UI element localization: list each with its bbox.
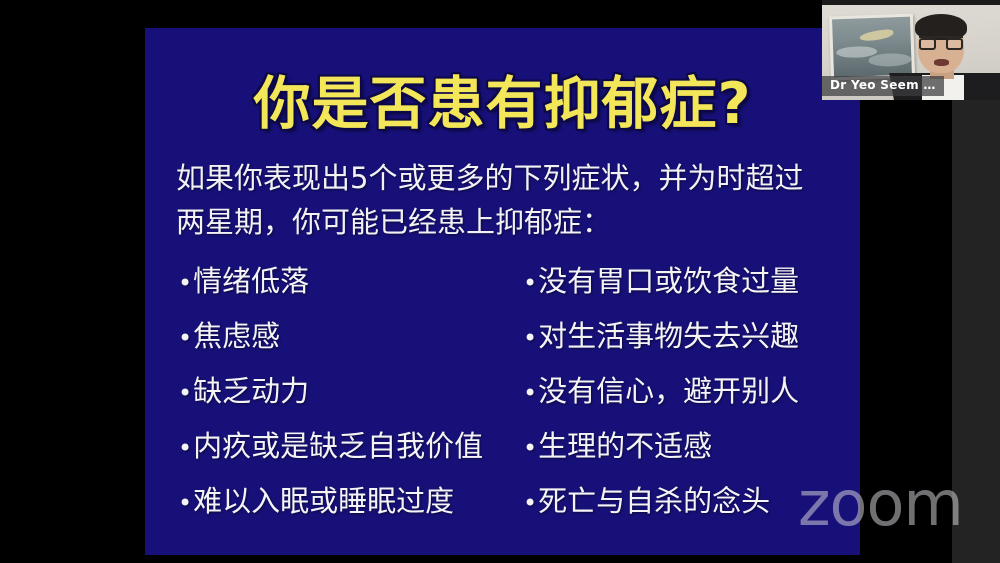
bullet-icon: • (523, 372, 537, 414)
list-item: • 没有胃口或饮食过量 (523, 260, 853, 315)
presentation-slide: 你是否患有抑郁症? 如果你表现出5个或更多的下列症状，并为时超过两星期，你可能已… (145, 28, 860, 555)
list-item: • 焦虑感 (178, 315, 523, 370)
list-item: • 对生活事物失去兴趣 (523, 315, 853, 370)
participant-video-tile[interactable]: Dr Yeo Seem … (822, 0, 1000, 100)
list-item-label: 情绪低落 (193, 260, 309, 302)
framed-painting-icon (829, 14, 915, 81)
list-item-label: 对生活事物失去兴趣 (538, 315, 799, 357)
participant-name-label: Dr Yeo Seem … (822, 76, 944, 96)
list-item-label: 内疚或是缺乏自我价值 (193, 425, 483, 467)
slide-subtitle: 如果你表现出5个或更多的下列症状，并为时超过两星期，你可能已经患上抑郁症： (176, 156, 831, 244)
list-item: • 难以入眠或睡眠过度 (178, 480, 523, 535)
list-item-label: 焦虑感 (193, 315, 280, 357)
list-item: • 缺乏动力 (178, 370, 523, 425)
bullet-icon: • (178, 372, 192, 414)
bullet-icon: • (523, 317, 537, 359)
list-item-label: 生理的不适感 (538, 425, 712, 467)
bullet-icon: • (178, 262, 192, 304)
symptom-list: • 情绪低落 • 焦虑感 • 缺乏动力 • 内疚或是缺乏自我价值 • 难以入 (145, 260, 860, 550)
list-item-label: 没有信心，避开别人 (538, 370, 799, 412)
zoom-logo-watermark: zoom (798, 473, 963, 535)
glasses-lens-left (919, 38, 936, 50)
bullet-icon: • (178, 427, 192, 469)
bullet-icon: • (523, 262, 537, 304)
list-item: • 内疚或是缺乏自我价值 (178, 425, 523, 480)
bullet-icon: • (523, 482, 537, 524)
glasses-lens-right (946, 38, 963, 50)
symptom-column-left: • 情绪低落 • 焦虑感 • 缺乏动力 • 内疚或是缺乏自我价值 • 难以入 (178, 260, 523, 535)
bullet-icon: • (178, 482, 192, 524)
list-item: • 没有信心，避开别人 (523, 370, 853, 425)
list-item-label: 缺乏动力 (193, 370, 309, 412)
list-item-label: 难以入眠或睡眠过度 (193, 480, 454, 522)
person-mouth (934, 59, 949, 66)
list-item-label: 死亡与自杀的念头 (538, 480, 770, 522)
list-item: • 情绪低落 (178, 260, 523, 315)
bullet-icon: • (178, 317, 192, 359)
slide-title: 你是否患有抑郁症? (145, 72, 860, 136)
zoom-screenshare-window: 你是否患有抑郁症? 如果你表现出5个或更多的下列症状，并为时超过两星期，你可能已… (0, 0, 1000, 563)
bullet-icon: • (523, 427, 537, 469)
glasses-icon (919, 36, 963, 48)
list-item-label: 没有胃口或饮食过量 (538, 260, 799, 302)
